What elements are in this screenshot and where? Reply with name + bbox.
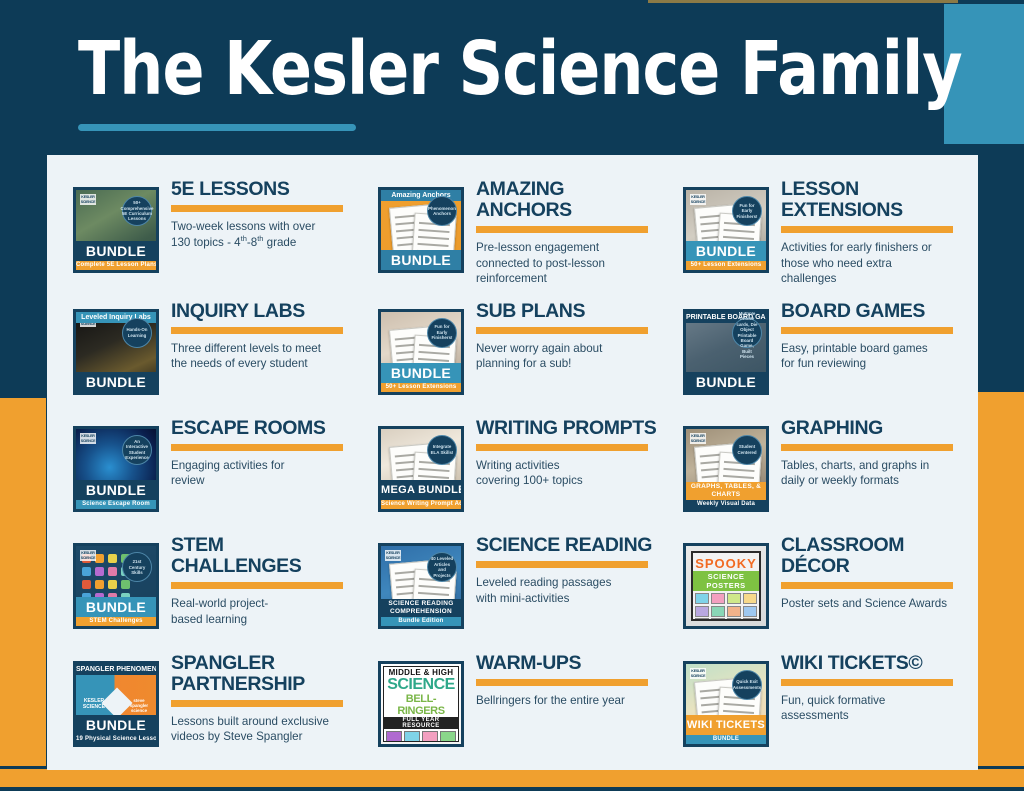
stem-icon-tile [108, 554, 117, 563]
thumbnail-subtitle-band: Weekly Visual Data [686, 500, 766, 509]
bellringer-sample [404, 731, 420, 742]
amazing-anchors-thumbnail[interactable]: Amazing AnchorsPhenomenon AnchorsBUNDLE [378, 187, 464, 273]
thumbnail-subtitle-band: Complete 5E Lesson Plans [76, 261, 156, 270]
right-orange-band [978, 392, 1024, 770]
thumbnail-bundle-band: BUNDLE [76, 480, 156, 500]
product-card[interactable]: KESLER SCIENCEStudent CenteredWeekly Vis… [665, 408, 970, 525]
warm-ups-thumbnail[interactable]: MIDDLE & HIGHSCIENCEBELL-RINGERSFULL YEA… [378, 661, 464, 747]
bellringer-cover: MIDDLE & HIGHSCIENCEBELL-RINGERSFULL YEA… [383, 666, 459, 742]
product-title: WARM-UPS [476, 653, 657, 674]
product-card[interactable]: PRINTABLE BOARD GAMEIncludes 10 Multiple… [665, 291, 970, 408]
poster-thumb [695, 618, 709, 621]
thumbnail-bundle-band: BUNDLE [381, 250, 461, 270]
thumbnail-text-line [418, 592, 449, 596]
product-info: WRITING PROMPTSWriting activitiescoverin… [464, 412, 657, 489]
product-title: 5E LESSONS [171, 179, 352, 200]
thumbnail-bundle-band: BUNDLE [76, 715, 156, 735]
stem-challenges-thumbnail[interactable]: KESLER SCIENCE21st Century SkillsSTEM Ch… [73, 543, 159, 629]
thumbnail-subtitle-band: 50+ Lesson Extensions [686, 261, 766, 270]
inquiry-labs-thumbnail[interactable]: KESLER SCIENCELeveled Inquiry LabsHands-… [73, 309, 159, 395]
stem-icon-tile [108, 580, 117, 589]
product-description: Writing activitiescovering 100+ topics [476, 458, 657, 489]
product-description: Tables, charts, and graphs indaily or we… [781, 458, 962, 489]
title-divider-rule [171, 205, 343, 212]
bellringer-sample [440, 731, 456, 742]
thumbnail-text-line [418, 236, 449, 240]
thumbnail-badge: 40 Leveled Articles and Projects [427, 552, 457, 582]
thumbnail-subtitle-band: BUNDLE [686, 735, 766, 744]
poster-thumb [743, 593, 757, 604]
thumbnail-subtitle-band: Bundle Edition [381, 617, 461, 626]
stem-icon-tile [95, 567, 104, 576]
stem-icon-tile [82, 567, 91, 576]
title-divider-rule [781, 226, 953, 233]
title-divider-rule [476, 679, 648, 686]
sub-plans-thumbnail[interactable]: Fun for Early Finishers!50+ Lesson Exten… [378, 309, 464, 395]
main-panel: KESLER SCIENCE50+ Comprehensive 5E Curri… [47, 155, 978, 770]
product-info: GRAPHINGTables, charts, and graphs indai… [769, 412, 962, 489]
bellringer-line-2: SCIENCE [384, 677, 458, 693]
product-title: STEM CHALLENGES [171, 535, 352, 577]
title-divider-rule [171, 582, 343, 589]
thumbnail-subtitle-band: STEM Challenges [76, 617, 156, 626]
kesler-science-logo-icon: KESLER SCIENCE [80, 433, 96, 444]
product-title: ESCAPE ROOMS [171, 418, 352, 439]
title-divider-rule [781, 327, 953, 334]
page-title: The Kesler Science Family [78, 32, 962, 106]
thumbnail-text-line [418, 585, 449, 589]
product-description: Real-world project-based learning [171, 596, 352, 627]
product-info: WIKI TICKETS©Fun, quick formativeassessm… [769, 647, 962, 724]
poster-thumb [727, 618, 741, 621]
title-divider-rule [476, 327, 648, 334]
thumbnail-badge: Includes 10 Multiple Choice cards, Die O… [732, 318, 762, 348]
thumbnail-bundle-band: WIKI TICKETS [686, 715, 766, 735]
product-description: Lessons built around exclusivevideos by … [171, 714, 352, 745]
thumbnail-bundle-band: BUNDLE [76, 241, 156, 261]
stem-icon-tile [95, 580, 104, 589]
thumbnail-bundle-band: BUNDLE [686, 372, 766, 392]
poster-thumb [711, 593, 725, 604]
poster-cover: SPOOKYSCIENCE POSTERS [691, 551, 761, 621]
product-card[interactable]: KESLER SCIENCEsteve spangler scienceSPAN… [55, 643, 360, 760]
board-games-thumbnail[interactable]: PRINTABLE BOARD GAMEIncludes 10 Multiple… [683, 309, 769, 395]
title-underline [78, 124, 356, 131]
thumbnail-badge: Student Centered [732, 435, 762, 465]
thumbnail-text-line [723, 468, 754, 472]
product-card[interactable]: Fun for Early Finishers!50+ Lesson Exten… [360, 291, 665, 408]
product-info: 5E LESSONSTwo-week lessons with over130 … [159, 173, 352, 250]
thumbnail-bundle-band: BUNDLE [76, 597, 156, 617]
title-divider-rule [171, 700, 343, 707]
product-info: ESCAPE ROOMSEngaging activities forrevie… [159, 412, 352, 489]
kesler-science-logo-icon: KESLER SCIENCE [690, 194, 706, 205]
product-info: SPANGLER PARTNERSHIPLessons built around… [159, 647, 352, 745]
thumbnail-badge: Integrate ELA Skills! [427, 435, 457, 465]
thumbnail-bundle-band: BUNDLE [76, 372, 156, 392]
stem-icon-tile [82, 580, 91, 589]
bellringer-line-3: BELL-RINGERS [384, 693, 458, 717]
product-title: WRITING PROMPTS [476, 418, 657, 439]
product-info: INQUIRY LABSThree different levels to me… [159, 295, 352, 372]
stem-icon-tile [95, 554, 104, 563]
product-info: BOARD GAMESEasy, printable board gamesfo… [769, 295, 962, 372]
kesler-science-logo-icon: KESLER SCIENCE [385, 550, 401, 561]
title-divider-rule [781, 679, 953, 686]
poster-thumbnail-grid [693, 591, 759, 621]
kesler-science-logo-icon: KESLER SCIENCE [80, 550, 96, 561]
thumbnail-badge: Fun for Early Finishers! [427, 318, 457, 348]
product-card[interactable]: MIDDLE & HIGHSCIENCEBELL-RINGERSFULL YEA… [360, 643, 665, 760]
thumbnail-subtitle-band: Science Escape Room [76, 500, 156, 509]
poster-thumb [711, 606, 725, 617]
kesler-science-logo-icon: KESLER SCIENCE [80, 194, 96, 205]
thumbnail-text-line [418, 357, 449, 361]
thumbnail-bundle-band: BUNDLE [686, 241, 766, 261]
product-card[interactable]: SPOOKYSCIENCE POSTERSCLASSROOM DÉCORPost… [665, 525, 970, 642]
product-info: SCIENCE READINGLeveled reading passagesw… [464, 529, 657, 606]
product-info: CLASSROOM DÉCORPoster sets and Science A… [769, 529, 962, 612]
product-card[interactable]: KESLER SCIENCE40 Leveled Articles and Pr… [360, 525, 665, 642]
product-title: SCIENCE READING [476, 535, 657, 556]
product-info: STEM CHALLENGESReal-world project-based … [159, 529, 352, 627]
product-title: INQUIRY LABS [171, 301, 352, 322]
poster-thumb [727, 593, 741, 604]
bottom-orange-band [0, 769, 1024, 787]
thumbnail-text-line [723, 475, 754, 479]
poster-thumb [727, 606, 741, 617]
product-card[interactable]: Amazing AnchorsPhenomenon AnchorsBUNDLEA… [360, 169, 665, 291]
science-reading-thumbnail[interactable]: KESLER SCIENCE40 Leveled Articles and Pr… [378, 543, 464, 629]
graphing-thumbnail[interactable]: KESLER SCIENCEStudent CenteredWeekly Vis… [683, 426, 769, 512]
poster-title-line-1: SPOOKY [693, 556, 759, 571]
lesson-extensions-thumbnail[interactable]: KESLER SCIENCEFun for Early Finishers!50… [683, 187, 769, 273]
product-description: Three different levels to meetthe needs … [171, 341, 352, 372]
thumbnail-subtitle-band: 50+ Lesson Extensions [381, 383, 461, 392]
thumbnail-bundle-band: SCIENCE READING COMPREHENSION [381, 599, 461, 617]
thumbnail-badge: Fun for Early Finishers! [732, 196, 762, 226]
thumbnail-text-line [723, 703, 754, 707]
product-description: Fun, quick formativeassessments [781, 693, 962, 724]
product-info: AMAZING ANCHORSPre-lesson engagementconn… [464, 173, 657, 287]
title-divider-rule [476, 226, 648, 233]
product-description: Activities for early finishers orthose w… [781, 240, 962, 287]
product-card[interactable]: KESLER SCIENCEQuick Exit AssessmentsBUND… [665, 643, 970, 760]
thumbnail-text-line [418, 475, 449, 479]
product-info: LESSON EXTENSIONSActivities for early fi… [769, 173, 962, 287]
bellringer-sample-grid [384, 729, 458, 742]
product-title: LESSON EXTENSIONS [781, 179, 962, 221]
thumbnail-badge: An Interactive Student Experience [122, 435, 152, 465]
product-description: Never worry again aboutplanning for a su… [476, 341, 657, 372]
thumbnail-text-line [723, 229, 754, 233]
product-title: SPANGLER PARTNERSHIP [171, 653, 352, 695]
product-title: GRAPHING [781, 418, 962, 439]
spangler-partnership-thumbnail[interactable]: KESLER SCIENCEsteve spangler scienceSPAN… [73, 661, 159, 747]
thumbnail-text-line [723, 236, 754, 240]
writing-prompts-thumbnail[interactable]: Integrate ELA Skills!Science Writing Pro… [378, 426, 464, 512]
title-divider-rule [171, 327, 343, 334]
5e-lessons-thumbnail[interactable]: KESLER SCIENCE50+ Comprehensive 5E Curri… [73, 187, 159, 273]
product-description: Engaging activities forreview [171, 458, 352, 489]
thumbnail-text-line [418, 350, 449, 354]
product-title: AMAZING ANCHORS [476, 179, 657, 221]
poster-thumb [695, 593, 709, 604]
poster-thumb [711, 618, 725, 621]
product-description: Pre-lesson engagementconnected to post-l… [476, 240, 657, 287]
product-card[interactable]: KESLER SCIENCE50+ Comprehensive 5E Curri… [55, 169, 360, 291]
title-divider-rule [476, 444, 648, 451]
product-card[interactable]: KESLER SCIENCELeveled Inquiry LabsHands-… [55, 291, 360, 408]
thumbnail-bundle-band: GRAPHS, TABLES, & CHARTS [686, 482, 766, 500]
thumbnail-badge: Quick Exit Assessments [732, 670, 762, 700]
thumbnail-text-line [723, 710, 754, 714]
product-card[interactable]: KESLER SCIENCE21st Century SkillsSTEM Ch… [55, 525, 360, 642]
classroom-decor-thumbnail[interactable]: SPOOKYSCIENCE POSTERS [683, 543, 769, 629]
thumbnail-badge: Phenomenon Anchors [427, 196, 457, 226]
thumbnail-subtitle-band: Science Writing Prompt Activities [381, 500, 461, 509]
bellringer-line-4: FULL YEAR RESOURCE [384, 717, 458, 729]
left-orange-band [0, 398, 46, 770]
title-divider-rule [171, 444, 343, 451]
stem-icon-tile [121, 580, 130, 589]
product-description: Two-week lessons with over130 topics - 4… [171, 219, 352, 250]
title-divider-rule [476, 561, 648, 568]
escape-rooms-thumbnail[interactable]: KESLER SCIENCEAn Interactive Student Exp… [73, 426, 159, 512]
product-title: BOARD GAMES [781, 301, 962, 322]
product-title: SUB PLANS [476, 301, 657, 322]
product-card[interactable]: KESLER SCIENCEAn Interactive Student Exp… [55, 408, 360, 525]
product-info: SUB PLANSNever worry again aboutplanning… [464, 295, 657, 372]
steve-spangler-mark: steve spangler science [126, 698, 152, 714]
title-divider-rule [781, 444, 953, 451]
thumbnail-top-band: SPANGLER PHENOMENON [76, 664, 156, 675]
thumbnail-subtitle-band: 19 Physical Science Lessons [76, 735, 156, 744]
thumbnail-text-line [418, 229, 449, 233]
product-card[interactable]: Integrate ELA Skills!Science Writing Pro… [360, 408, 665, 525]
kesler-science-logo-icon: KESLER SCIENCE [690, 668, 706, 679]
header: The Kesler Science Family [0, 0, 1024, 155]
thumbnail-bundle-band: MEGA BUNDLE [381, 480, 461, 500]
poster-thumb [743, 606, 757, 617]
product-grid: KESLER SCIENCE50+ Comprehensive 5E Curri… [47, 155, 978, 770]
poster-thumb [743, 618, 757, 621]
kesler-science-logo-icon: KESLER SCIENCE [690, 433, 706, 444]
product-description: Poster sets and Science Awards [781, 596, 962, 612]
product-title: WIKI TICKETS© [781, 653, 962, 674]
thumbnail-badge: Hands-On Learning [122, 318, 152, 348]
product-info: WARM-UPSBellringers for the entire year [464, 647, 657, 709]
thumbnail-text-line [418, 243, 449, 247]
wiki-tickets-thumbnail[interactable]: KESLER SCIENCEQuick Exit AssessmentsBUND… [683, 661, 769, 747]
bottom-rule-lower [0, 787, 1024, 791]
product-title: CLASSROOM DÉCOR [781, 535, 962, 577]
poster-title-line-2: SCIENCE POSTERS [693, 571, 759, 591]
product-description: Bellringers for the entire year [476, 693, 657, 709]
thumbnail-bundle-band: BUNDLE [381, 363, 461, 383]
product-description: Easy, printable board gamesfor fun revie… [781, 341, 962, 372]
bellringer-sample [386, 731, 402, 742]
title-divider-rule [781, 582, 953, 589]
poster-thumb [695, 606, 709, 617]
bellringer-sample [422, 731, 438, 742]
thumbnail-badge: 50+ Comprehensive 5E Curriculum Lessons [122, 196, 152, 226]
stem-icon-tile [108, 567, 117, 576]
thumbnail-text-line [418, 468, 449, 472]
product-card[interactable]: KESLER SCIENCEFun for Early Finishers!50… [665, 169, 970, 291]
product-description: Leveled reading passageswith mini-activi… [476, 575, 657, 606]
kesler-science-mark: KESLER SCIENCE [82, 698, 106, 710]
